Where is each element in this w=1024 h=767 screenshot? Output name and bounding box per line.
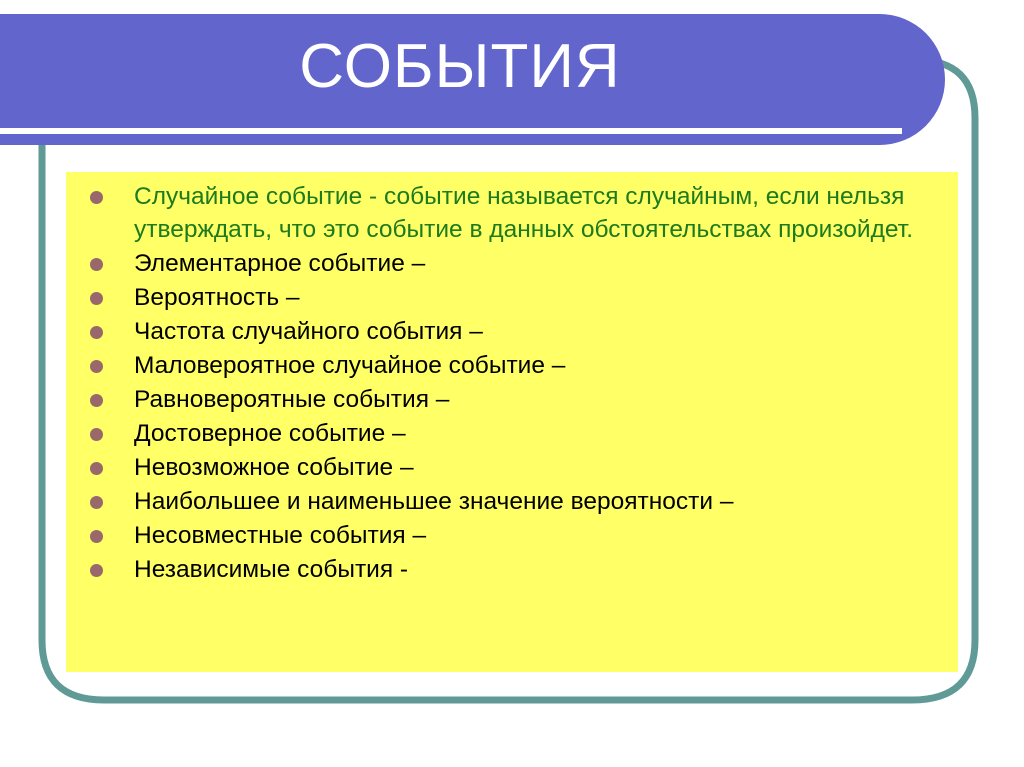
list-item: Частота случайного события – bbox=[76, 315, 948, 348]
page-title: СОБЫТИЯ bbox=[0, 30, 920, 104]
bullet-list: Случайное событие - событие называется с… bbox=[76, 180, 948, 586]
bullet-marker-icon bbox=[90, 326, 103, 339]
list-item-label: Элементарное событие – bbox=[134, 247, 948, 280]
list-item-label: Частота случайного события – bbox=[134, 315, 948, 348]
list-item: Невозможное событие – bbox=[76, 451, 948, 484]
list-item-label: Достоверное событие – bbox=[134, 417, 948, 450]
slide-canvas: СОБЫТИЯ Случайное событие - событие назы… bbox=[0, 0, 1024, 767]
list-item: Достоверное событие – bbox=[76, 417, 948, 450]
bullet-marker-icon bbox=[90, 191, 103, 204]
list-item-label: Случайное событие - событие называется с… bbox=[134, 180, 948, 246]
bullet-marker-icon bbox=[90, 360, 103, 373]
list-item-label: Равновероятные события – bbox=[134, 383, 948, 416]
list-item: Наибольшее и наименьшее значение вероятн… bbox=[76, 485, 948, 518]
list-item-label: Наибольшее и наименьшее значение вероятн… bbox=[134, 485, 948, 518]
list-item-label: Вероятность – bbox=[134, 281, 948, 314]
list-item: Маловероятное случайное событие – bbox=[76, 349, 948, 382]
bullet-marker-icon bbox=[90, 564, 103, 577]
bullet-marker-icon bbox=[90, 292, 103, 305]
title-banner-stripe bbox=[0, 128, 902, 134]
bullet-marker-icon bbox=[90, 496, 103, 509]
list-item-label: Маловероятное случайное событие – bbox=[134, 349, 948, 382]
bullet-marker-icon bbox=[90, 530, 103, 543]
list-item-label: Независимые события - bbox=[134, 553, 948, 586]
list-item: Вероятность – bbox=[76, 281, 948, 314]
list-item: Несовместные события – bbox=[76, 519, 948, 552]
bullet-marker-icon bbox=[90, 428, 103, 441]
bullet-marker-icon bbox=[90, 394, 103, 407]
list-item: Случайное событие - событие называется с… bbox=[76, 180, 948, 246]
bullet-marker-icon bbox=[90, 258, 103, 271]
list-item: Элементарное событие – bbox=[76, 247, 948, 280]
list-item: Равновероятные события – bbox=[76, 383, 948, 416]
list-item: Независимые события - bbox=[76, 553, 948, 586]
list-item-label: Несовместные события – bbox=[134, 519, 948, 552]
list-item-label: Невозможное событие – bbox=[134, 451, 948, 484]
content-panel: Случайное событие - событие называется с… bbox=[66, 172, 958, 672]
bullet-marker-icon bbox=[90, 462, 103, 475]
